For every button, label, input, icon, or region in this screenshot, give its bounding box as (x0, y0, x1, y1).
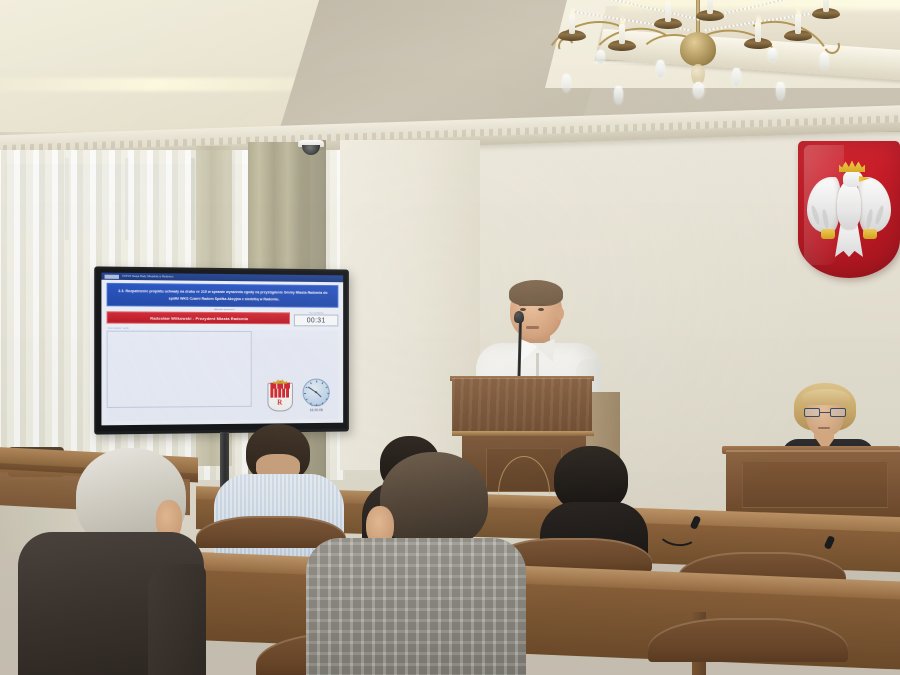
crystal-drop (768, 48, 777, 62)
speaker-timer-row: Radosław Witkowski - Prezydent Miasta Ra… (107, 312, 339, 327)
candle-flame (666, 0, 671, 3)
clock-tick (304, 393, 306, 394)
clock-tick (325, 386, 327, 388)
clock-tick (310, 382, 312, 385)
bench-seat-back (648, 618, 848, 662)
crystal-drop (732, 68, 741, 86)
agenda-item-box: 2.3. Rozpatrzenie projektu uchwały na dr… (107, 283, 339, 308)
crystal-drop (614, 86, 623, 104)
speaker-mouth (526, 326, 539, 329)
speaker-hair (509, 280, 563, 306)
timer-group: Czas wystąpienia 00:31 (294, 313, 338, 327)
radom-letter: R (277, 399, 282, 407)
eagle-wing-right (857, 177, 891, 233)
cove-light-left (0, 78, 322, 91)
crystal-drop (656, 60, 665, 78)
clock-tick (306, 398, 308, 400)
clock-tick (316, 381, 317, 383)
clerk-glasses (804, 408, 846, 417)
speaker-eyebrow (519, 304, 527, 306)
eagle-crown (839, 160, 865, 172)
crystal-drop (596, 50, 605, 64)
godlo-polski-emblem (798, 141, 900, 278)
jacket-check-pattern (306, 538, 526, 675)
candle-flame (756, 14, 761, 23)
white-eagle-icon (805, 157, 893, 265)
attendee-hair (380, 452, 488, 548)
current-speaker-name: Radosław Witkowski - Prezydent Miasta Ra… (150, 315, 248, 320)
clock-face (303, 379, 330, 407)
emblem-row: R (267, 379, 330, 412)
chandelier-candle (707, 0, 713, 14)
person-attendee-1 (18, 448, 204, 675)
clock-tick (327, 393, 329, 394)
current-speaker-banner: Radosław Witkowski - Prezydent Miasta Ra… (107, 312, 290, 325)
eagle-talon-right (863, 229, 877, 239)
chandelier-candle (795, 14, 801, 34)
tv-screen[interactable]: XXXVII Sesja Rady Miejskiej w Radomiu 2.… (101, 273, 343, 426)
eagle-body (837, 181, 861, 229)
radom-coat-of-arms-icon: R (267, 379, 292, 412)
person-attendee-4 (306, 452, 526, 675)
gooseneck-microphone[interactable] (658, 520, 698, 546)
podium-microphone-head (514, 311, 524, 323)
chandelier-body (680, 32, 716, 66)
tv-content-area: R (107, 330, 339, 421)
speaker-eyebrow (537, 304, 545, 306)
chandelier-candle (665, 2, 671, 22)
council-chamber-scene: XXXVII Sesja Rady Miejskiej w Radomiu 2.… (0, 0, 900, 675)
clerk-fringe (802, 389, 850, 405)
agenda-item-text: 2.3. Rozpatrzenie projektu uchwały na dr… (115, 288, 331, 303)
radom-wall (270, 389, 290, 398)
chandelier-candle (619, 24, 625, 44)
chandelier-candle (569, 14, 575, 34)
candle-flame (796, 6, 801, 15)
clock-tick (325, 398, 327, 400)
crystal-drop (820, 52, 829, 70)
candle-flame (620, 16, 625, 25)
esesja-logo-icon (105, 274, 119, 278)
brass-crystal-chandelier (536, 0, 866, 114)
speaker-eye (538, 308, 544, 311)
clock-date: 25.08.2022 (302, 405, 331, 407)
session-title: XXXVII Sesja Rady Miejskiej w Radomiu (122, 275, 173, 279)
results-panel (107, 331, 253, 408)
analog-clock-icon: 25.08.2022 16:20:08 (302, 379, 331, 412)
candle-flame (570, 6, 575, 15)
glasses-lens-left (804, 408, 820, 417)
speech-timer: 00:31 (294, 315, 338, 327)
glasses-bridge (820, 412, 830, 413)
crystal-drop (693, 82, 704, 98)
chandelier-candle (823, 0, 829, 12)
clock-tick (321, 382, 323, 385)
camera-dome (302, 145, 320, 155)
chandelier-candle (755, 22, 761, 42)
wall-television[interactable]: XXXVII Sesja Rady Miejskiej w Radomiu 2.… (94, 266, 349, 434)
crystal-drop (562, 74, 571, 92)
attendee-shoulder (148, 564, 206, 675)
dome-security-camera (298, 140, 324, 154)
eagle-talon-left (821, 229, 835, 239)
esesja-header-bar: XXXVII Sesja Rady Miejskiej w Radomiu (101, 273, 343, 283)
glasses-lens-right (830, 408, 846, 417)
crystal-drop (776, 82, 785, 100)
clerk-mouth (818, 427, 830, 429)
clock-time: 16:20:08 (302, 408, 331, 412)
podium-wood-grain (452, 378, 592, 433)
presidium-desk-panel (742, 462, 888, 508)
speaker-ear (556, 307, 564, 320)
